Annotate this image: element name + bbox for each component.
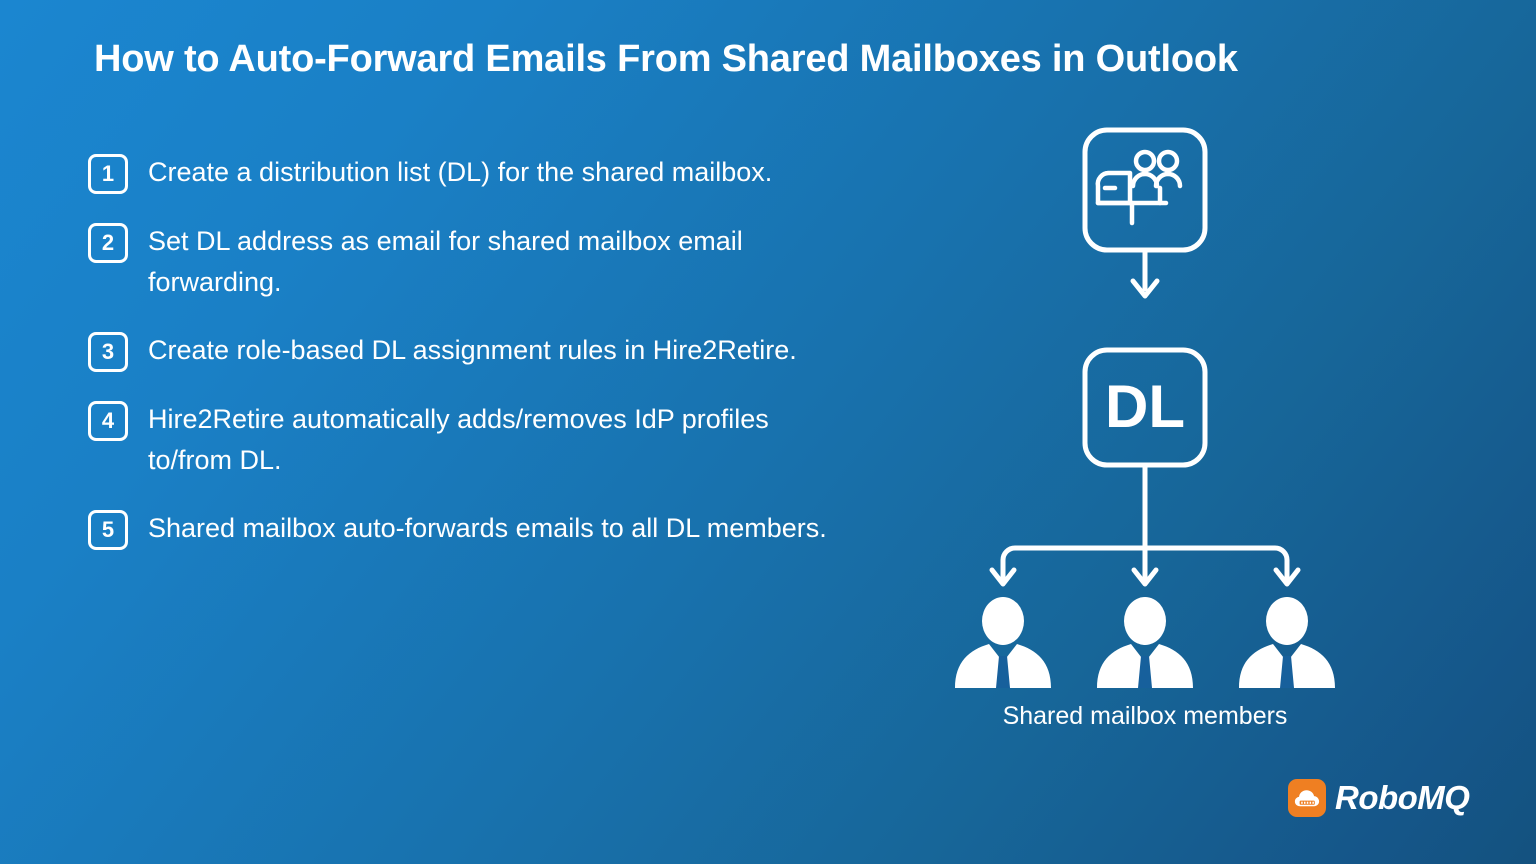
shared-mailbox-icon [1098, 152, 1180, 223]
page-title: How to Auto-Forward Emails From Shared M… [94, 33, 1454, 85]
person-icon [1097, 597, 1193, 688]
step-number-badge: 1 [88, 154, 128, 194]
shared-mailbox-node [1085, 130, 1205, 250]
flow-diagram: DL [930, 118, 1360, 743]
person-icon [1239, 597, 1335, 688]
branch-connector [1003, 465, 1287, 580]
robomq-cloud-icon [1288, 779, 1326, 817]
step-number-badge: 4 [88, 401, 128, 441]
list-item: 1 Create a distribution list (DL) for th… [88, 152, 888, 194]
list-item: 3 Create role-based DL assignment rules … [88, 330, 888, 372]
infographic-poster: How to Auto-Forward Emails From Shared M… [0, 0, 1536, 864]
dl-node: DL [1085, 350, 1205, 465]
dl-node-label: DL [1105, 373, 1185, 440]
arrow-mailbox-to-dl [1133, 250, 1157, 296]
person-icon [955, 597, 1051, 688]
step-text: Create role-based DL assignment rules in… [148, 330, 797, 371]
step-text: Hire2Retire automatically adds/removes I… [148, 399, 848, 481]
step-text: Create a distribution list (DL) for the … [148, 152, 772, 193]
shared-mailbox-node-border [1085, 130, 1205, 250]
list-item: 4 Hire2Retire automatically adds/removes… [88, 399, 888, 481]
list-item: 2 Set DL address as email for shared mai… [88, 221, 888, 303]
member-icons [955, 597, 1335, 688]
step-text: Shared mailbox auto-forwards emails to a… [148, 508, 827, 549]
step-number-badge: 3 [88, 332, 128, 372]
step-text: Set DL address as email for shared mailb… [148, 221, 848, 303]
step-number-badge: 2 [88, 223, 128, 263]
robomq-logo[interactable]: RoboMQ [1288, 779, 1469, 817]
step-number-badge: 5 [88, 510, 128, 550]
robomq-wordmark: RoboMQ [1335, 779, 1469, 817]
members-caption: Shared mailbox members [930, 702, 1360, 731]
steps-list: 1 Create a distribution list (DL) for th… [88, 152, 888, 577]
list-item: 5 Shared mailbox auto-forwards emails to… [88, 508, 888, 550]
